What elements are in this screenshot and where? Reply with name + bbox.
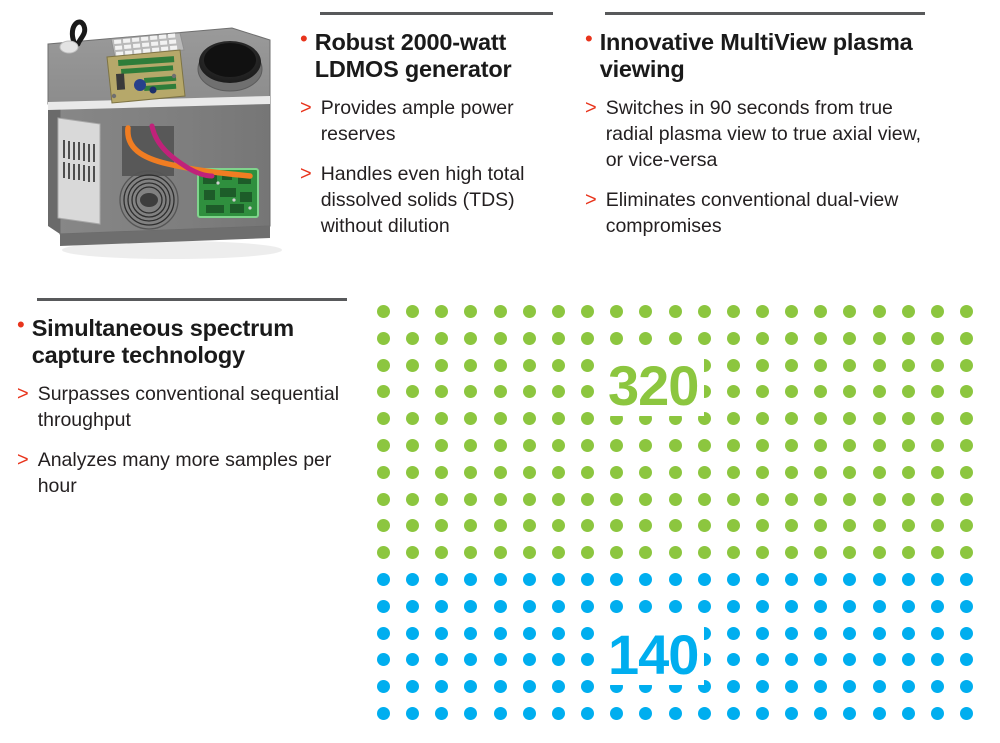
dot-matrix-dot	[377, 573, 390, 586]
top-circuit-board	[107, 50, 185, 103]
dot-matrix-dot	[464, 573, 477, 586]
dot-matrix-dot	[902, 332, 915, 345]
dot-matrix-dot	[435, 493, 448, 506]
dot-matrix-dot	[931, 546, 944, 559]
dot-matrix-dot	[873, 627, 886, 640]
dot-matrix-dot	[377, 466, 390, 479]
dot-matrix-dot	[843, 627, 856, 640]
dot-matrix-dot	[785, 707, 798, 720]
dot-matrix-dot	[406, 385, 419, 398]
dot-matrix-dot	[581, 573, 594, 586]
dot-matrix-dot	[727, 680, 740, 693]
feature-heading-row: • Simultaneous spectrum capture technolo…	[17, 315, 347, 369]
dot-matrix-dot	[523, 573, 536, 586]
dot-matrix-dot	[377, 680, 390, 693]
dot-matrix-dot	[960, 332, 973, 345]
dot-matrix-dot	[814, 439, 827, 452]
dot-matrix-dot	[843, 573, 856, 586]
dot-matrix-dot	[639, 466, 652, 479]
dot-matrix-dot	[669, 546, 682, 559]
dot-matrix-dot	[960, 600, 973, 613]
dot-matrix-dot	[873, 573, 886, 586]
dot-matrix-dot	[873, 359, 886, 372]
dot-matrix-dot	[960, 573, 973, 586]
dot-matrix-dot	[464, 412, 477, 425]
dot-matrix-dot	[494, 493, 507, 506]
feature-heading: Innovative MultiView plasma viewing	[600, 29, 925, 83]
dot-matrix-dot	[552, 600, 565, 613]
dot-matrix-dot	[494, 573, 507, 586]
dot-matrix-dot	[698, 332, 711, 345]
dot-matrix-dot	[581, 546, 594, 559]
dot-matrix-dot	[464, 546, 477, 559]
dot-matrix-dot	[494, 466, 507, 479]
dot-matrix-dot	[610, 493, 623, 506]
dot-matrix-dot	[785, 332, 798, 345]
feature-heading-row: • Robust 2000-watt LDMOS generator	[300, 29, 553, 83]
dot-matrix-dot	[698, 466, 711, 479]
dot-matrix-dot	[698, 546, 711, 559]
dot-matrix-dot	[494, 627, 507, 640]
dot-matrix-dot	[902, 680, 915, 693]
dot-matrix-dot	[843, 707, 856, 720]
dot-matrix-dot	[523, 546, 536, 559]
dot-matrix-dot	[494, 332, 507, 345]
dot-matrix-dot	[756, 600, 769, 613]
dot-matrix-dot	[902, 653, 915, 666]
dot-matrix-dot	[610, 519, 623, 532]
dot-matrix-dot	[377, 627, 390, 640]
dot-matrix-dot	[523, 385, 536, 398]
dot-matrix-dot	[435, 385, 448, 398]
dot-matrix-dot	[377, 305, 390, 318]
dot-matrix-dot	[435, 519, 448, 532]
feature-heading-row: • Innovative MultiView plasma viewing	[585, 29, 925, 83]
dot-matrix-dot	[669, 332, 682, 345]
dot-matrix-dot	[639, 332, 652, 345]
dot-matrix-dot	[727, 653, 740, 666]
dot-matrix-dot	[639, 493, 652, 506]
dot-matrix-dot	[435, 573, 448, 586]
dot-matrix-dot	[727, 359, 740, 372]
heatsink-module	[58, 118, 100, 224]
dot-matrix-dot	[377, 385, 390, 398]
dot-matrix-dot	[435, 546, 448, 559]
dot-matrix-dot	[756, 332, 769, 345]
dot-matrix-dot	[464, 519, 477, 532]
dot-matrix-dot	[843, 412, 856, 425]
list-item-text: Switches in 90 seconds from true radial …	[606, 95, 925, 173]
dot-matrix-dot	[406, 332, 419, 345]
dot-matrix-dot	[639, 439, 652, 452]
dot-matrix-dot	[814, 385, 827, 398]
dot-matrix-dot	[873, 519, 886, 532]
dot-matrix-dot	[406, 627, 419, 640]
dot-matrix-dot	[960, 359, 973, 372]
dot-matrix-dot	[931, 412, 944, 425]
dot-matrix-dot	[785, 305, 798, 318]
dot-matrix-dot	[435, 653, 448, 666]
dot-matrix-dot	[756, 680, 769, 693]
dot-matrix-dot	[756, 466, 769, 479]
dot-matrix-dot	[960, 439, 973, 452]
dot-matrix-dot	[435, 466, 448, 479]
dot-matrix-dot	[494, 680, 507, 693]
dot-matrix-dot	[814, 519, 827, 532]
dot-matrix-dot	[377, 653, 390, 666]
dot-matrix-dot	[669, 466, 682, 479]
dot-matrix-dot	[727, 385, 740, 398]
dot-matrix-dot	[435, 412, 448, 425]
feature-heading: Simultaneous spectrum capture technology	[32, 315, 347, 369]
dot-matrix-dot	[785, 573, 798, 586]
dot-matrix-dot	[406, 707, 419, 720]
dot-matrix-dot	[494, 546, 507, 559]
dot-matrix-dot	[814, 573, 827, 586]
chevron-right-icon: >	[17, 381, 29, 407]
dot-matrix-dot	[902, 627, 915, 640]
dot-matrix-dot	[727, 439, 740, 452]
dot-matrix-dot	[698, 707, 711, 720]
dot-matrix-dot	[785, 627, 798, 640]
dot-matrix-dot	[581, 707, 594, 720]
list-item-text: Analyzes many more samples per hour	[38, 447, 347, 499]
dot-matrix-dot	[727, 305, 740, 318]
dot-matrix-dot	[610, 332, 623, 345]
dot-matrix-dot	[581, 332, 594, 345]
dot-matrix-dot	[931, 707, 944, 720]
chevron-right-icon: >	[585, 187, 597, 213]
dot-matrix-dot	[873, 412, 886, 425]
dot-matrix-dot	[464, 385, 477, 398]
dot-matrix-dot	[931, 385, 944, 398]
dot-matrix-dot	[552, 627, 565, 640]
dot-matrix-dot	[727, 466, 740, 479]
dot-matrix-dot	[698, 493, 711, 506]
dot-matrix-dot	[552, 653, 565, 666]
chevron-right-icon: >	[17, 447, 29, 473]
dot-matrix-dot	[523, 412, 536, 425]
dot-matrix-dot	[435, 359, 448, 372]
dot-matrix-dot	[581, 439, 594, 452]
dot-matrix-dot	[727, 707, 740, 720]
dot-matrix-dot	[843, 305, 856, 318]
dot-matrix-dot	[377, 412, 390, 425]
dot-matrix-dot	[814, 332, 827, 345]
dot-matrix-dot	[669, 305, 682, 318]
instrument-illustration	[22, 12, 304, 274]
antenna-base	[60, 41, 78, 53]
dot-matrix-dot	[873, 493, 886, 506]
dot-matrix-dot	[902, 305, 915, 318]
dot-matrix-dot	[523, 359, 536, 372]
dot-matrix-dot	[669, 707, 682, 720]
dot-matrix-dot	[464, 493, 477, 506]
dot-matrix-dot	[931, 332, 944, 345]
dot-matrix-dot	[610, 439, 623, 452]
dot-matrix-dot	[756, 707, 769, 720]
feature-sublist: > Provides ample power reserves > Handle…	[300, 95, 553, 239]
dot-matrix-dot	[610, 546, 623, 559]
bullet-icon: •	[17, 312, 25, 338]
dot-matrix-dot	[406, 653, 419, 666]
dot-matrix-dot	[406, 546, 419, 559]
list-item: > Provides ample power reserves	[300, 95, 553, 147]
dot-matrix-dot	[523, 466, 536, 479]
dot-matrix-dot	[464, 707, 477, 720]
dot-matrix-dot	[902, 439, 915, 452]
dot-matrix-dot	[873, 653, 886, 666]
dot-matrix-dot	[902, 359, 915, 372]
dot-matrix-dot	[785, 359, 798, 372]
instrument-svg	[22, 12, 304, 274]
dot-matrix-dot	[581, 493, 594, 506]
list-item: > Switches in 90 seconds from true radia…	[585, 95, 925, 173]
chart-label-blue: 140	[602, 625, 704, 685]
dot-matrix-dot	[523, 680, 536, 693]
dot-matrix-dot	[960, 519, 973, 532]
list-item: > Handles even high total dissolved soli…	[300, 161, 553, 239]
dot-matrix-dot	[931, 653, 944, 666]
dot-matrix-dot	[552, 359, 565, 372]
dot-matrix-dot	[639, 573, 652, 586]
dot-matrix-dot	[523, 600, 536, 613]
dot-matrix-dot	[494, 439, 507, 452]
dot-matrix-dot	[960, 466, 973, 479]
feature-sublist: > Surpasses conventional sequential thro…	[17, 381, 347, 499]
dot-matrix-dot	[494, 519, 507, 532]
dot-matrix-dot	[843, 519, 856, 532]
dot-matrix-dot	[814, 600, 827, 613]
dot-matrix-dot	[785, 653, 798, 666]
dot-matrix-dot	[785, 600, 798, 613]
dot-matrix-dot	[785, 546, 798, 559]
dot-matrix-dot	[610, 573, 623, 586]
dot-matrix-dot	[523, 332, 536, 345]
feature-column-generator: • Robust 2000-watt LDMOS generator > Pro…	[300, 12, 553, 253]
dot-matrix-dot	[960, 385, 973, 398]
dot-matrix-dot	[698, 439, 711, 452]
dot-matrix-dot	[406, 359, 419, 372]
dot-matrix-dot	[960, 546, 973, 559]
plasma-torch-port	[198, 41, 262, 91]
dot-matrix-dot	[814, 359, 827, 372]
dot-matrix-dot	[581, 359, 594, 372]
dot-matrix-dot	[552, 332, 565, 345]
dot-matrix-dot	[843, 466, 856, 479]
dot-matrix-dot	[377, 519, 390, 532]
dot-matrix-dot	[523, 653, 536, 666]
dot-matrix-dot	[698, 519, 711, 532]
dot-matrix-dot	[756, 519, 769, 532]
dot-matrix-dot	[814, 546, 827, 559]
dot-matrix-dot	[377, 359, 390, 372]
dot-matrix-dot	[931, 466, 944, 479]
dot-matrix-dot	[581, 305, 594, 318]
dot-matrix-dot	[552, 546, 565, 559]
dot-matrix-dot	[756, 627, 769, 640]
dot-matrix-dot	[960, 305, 973, 318]
dot-matrix-dot	[494, 305, 507, 318]
dot-matrix-dot	[581, 466, 594, 479]
dot-matrix-dot	[814, 305, 827, 318]
dot-matrix-dot	[931, 359, 944, 372]
dot-matrix-dot	[523, 493, 536, 506]
list-item-text: Eliminates conventional dual-view compro…	[606, 187, 925, 239]
dot-matrix-dot	[435, 707, 448, 720]
dot-matrix-dot	[960, 707, 973, 720]
dot-matrix-dot	[843, 600, 856, 613]
dot-matrix-dot	[435, 627, 448, 640]
dot-matrix-dot	[610, 466, 623, 479]
dot-matrix-dot	[727, 519, 740, 532]
dot-matrix-dot	[698, 573, 711, 586]
dot-matrix-dot	[931, 680, 944, 693]
dot-matrix-dot	[960, 493, 973, 506]
bullet-icon: •	[300, 26, 308, 52]
column-rule	[320, 12, 553, 15]
dot-matrix-dot	[814, 627, 827, 640]
dot-matrix-dot	[931, 519, 944, 532]
dot-matrix-dot	[523, 305, 536, 318]
dot-matrix-dot	[785, 680, 798, 693]
dot-matrix-dot	[843, 359, 856, 372]
chart-label-green: 320	[602, 356, 704, 416]
dot-matrix-dot	[669, 493, 682, 506]
dot-matrix-dot	[727, 627, 740, 640]
dot-matrix-dot	[494, 707, 507, 720]
dot-matrix-dot	[756, 653, 769, 666]
dot-matrix-dot	[873, 707, 886, 720]
dot-matrix-dot	[552, 305, 565, 318]
dot-matrix-dot	[814, 493, 827, 506]
dot-matrix-dot	[406, 439, 419, 452]
dot-matrix-dot	[639, 600, 652, 613]
dot-matrix-dot	[494, 385, 507, 398]
chevron-right-icon: >	[585, 95, 597, 121]
dot-matrix-dot	[552, 412, 565, 425]
dot-matrix-dot	[494, 359, 507, 372]
dot-matrix-dot	[523, 439, 536, 452]
dot-matrix-dot	[669, 600, 682, 613]
column-rule	[605, 12, 925, 15]
dot-matrix-dot	[960, 680, 973, 693]
bullet-icon: •	[585, 26, 593, 52]
dot-matrix-dot	[464, 653, 477, 666]
dot-matrix-dot	[435, 439, 448, 452]
dot-matrix-dot	[464, 332, 477, 345]
dot-matrix-dot	[931, 600, 944, 613]
dot-matrix-dot	[406, 519, 419, 532]
dot-matrix-dot	[931, 305, 944, 318]
dot-matrix-dot	[552, 466, 565, 479]
dot-matrix-dot	[523, 627, 536, 640]
dot-matrix-dot	[406, 573, 419, 586]
dot-matrix-dot	[581, 627, 594, 640]
dot-matrix-dot	[756, 493, 769, 506]
dot-matrix-dot	[639, 305, 652, 318]
dot-matrix-dot	[727, 546, 740, 559]
list-item: > Eliminates conventional dual-view comp…	[585, 187, 925, 239]
dot-matrix-dot	[581, 412, 594, 425]
dot-matrix-dot	[406, 412, 419, 425]
dot-matrix-dot	[464, 466, 477, 479]
dot-matrix-dot	[727, 600, 740, 613]
dot-matrix-dot	[377, 600, 390, 613]
dot-matrix-dot	[873, 546, 886, 559]
dot-matrix-dot	[785, 412, 798, 425]
dot-matrix-dot	[552, 680, 565, 693]
dot-matrix-dot	[873, 385, 886, 398]
dot-matrix-dot	[435, 600, 448, 613]
dot-matrix-dot	[698, 600, 711, 613]
list-item: > Surpasses conventional sequential thro…	[17, 381, 347, 433]
dot-matrix-dot	[377, 439, 390, 452]
dot-matrix-dot	[785, 493, 798, 506]
dot-matrix-dot	[406, 600, 419, 613]
dot-matrix-dot	[639, 546, 652, 559]
list-item-text: Provides ample power reserves	[321, 95, 553, 147]
dot-matrix-dot	[464, 305, 477, 318]
dot-matrix-dot	[902, 573, 915, 586]
dot-matrix-dot	[610, 707, 623, 720]
dot-matrix-dot	[756, 385, 769, 398]
dot-matrix-chart: 320 140	[365, 293, 979, 731]
dot-matrix-dot	[960, 412, 973, 425]
dot-matrix-dot	[843, 680, 856, 693]
dot-matrix-dot	[873, 439, 886, 452]
dot-matrix-dot	[464, 680, 477, 693]
dot-matrix-dot	[727, 573, 740, 586]
dot-matrix-dot	[902, 600, 915, 613]
dot-matrix-dot	[873, 332, 886, 345]
dot-matrix-dot	[581, 519, 594, 532]
dot-matrix-dot	[552, 707, 565, 720]
dot-matrix-dot	[902, 493, 915, 506]
column-rule	[37, 298, 347, 301]
dot-matrix-dot	[464, 600, 477, 613]
dot-matrix-dot	[843, 653, 856, 666]
feature-sublist: > Switches in 90 seconds from true radia…	[585, 95, 925, 239]
dot-matrix-dot	[814, 680, 827, 693]
chevron-right-icon: >	[300, 95, 312, 121]
dot-matrix-dot	[552, 573, 565, 586]
list-item-text: Surpasses conventional sequential throug…	[38, 381, 347, 433]
dot-matrix-dot	[552, 385, 565, 398]
dot-matrix-dot	[873, 305, 886, 318]
dot-matrix-dot	[464, 359, 477, 372]
list-item-text: Handles even high total dissolved solids…	[321, 161, 553, 239]
dot-matrix-dot	[552, 519, 565, 532]
dot-matrix-dot	[435, 305, 448, 318]
dot-matrix-dot	[435, 332, 448, 345]
feature-column-spectrum: • Simultaneous spectrum capture technolo…	[17, 298, 347, 513]
dot-matrix-dot	[960, 627, 973, 640]
dot-matrix-dot	[435, 680, 448, 693]
dot-matrix-dot	[494, 412, 507, 425]
dot-matrix-dot	[464, 439, 477, 452]
dot-matrix-dot	[843, 385, 856, 398]
dot-matrix-dot	[902, 385, 915, 398]
dot-matrix-dot	[494, 600, 507, 613]
dot-matrix-dot	[814, 412, 827, 425]
dot-matrix-dot	[814, 466, 827, 479]
dot-matrix-dot	[377, 546, 390, 559]
dot-matrix-dot	[931, 439, 944, 452]
dot-matrix-dot	[902, 519, 915, 532]
dot-matrix-dot	[669, 573, 682, 586]
dot-matrix-dot	[727, 493, 740, 506]
